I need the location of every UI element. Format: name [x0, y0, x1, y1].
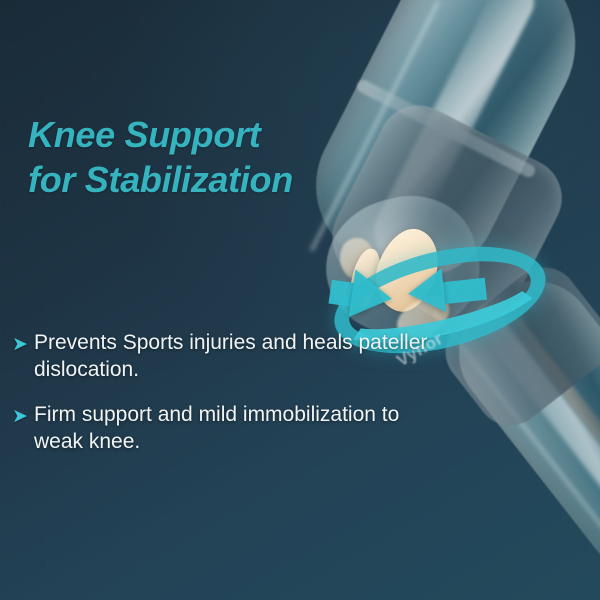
fibula-bone-highlight [505, 314, 600, 543]
medial-condyle-bone [345, 246, 385, 312]
page-title-line-1: Knee Support [28, 112, 293, 157]
background-texture-overlay [0, 0, 600, 600]
list-item: ➤ Firm support and mild immobilization t… [12, 402, 432, 456]
page-title-line-2: for Stabilization [28, 157, 293, 202]
page-title: Knee Support for Stabilization [28, 112, 293, 202]
feature-bullet-list: ➤ Prevents Sports injuries and heals pat… [12, 330, 432, 474]
tibia-bone-highlight [469, 302, 600, 554]
compression-sleeve-upper-hem [355, 78, 537, 179]
list-item: ➤ Prevents Sports injuries and heals pat… [12, 330, 432, 384]
compression-sleeve-lower [432, 254, 600, 439]
bullet-text: Prevents Sports injuries and heals patel… [34, 330, 432, 384]
thigh-limb-shape [288, 0, 600, 305]
compression-arrow-right-tail [441, 278, 487, 304]
lateral-condyle-bone [366, 221, 447, 319]
compression-arrow-left-tail [328, 280, 365, 308]
femur-bone-highlight [366, 0, 541, 260]
thigh-edge-glow [309, 0, 441, 252]
arrow-right-bullet-icon: ➤ [12, 407, 34, 426]
shin-limb-shape [435, 257, 600, 600]
patella-bone [338, 236, 376, 281]
knee-anatomy-illustration: Vynor [0, 0, 600, 600]
knee-joint-capsule [312, 182, 492, 351]
compression-arrow-right-icon [406, 268, 446, 316]
bullet-text: Firm support and mild immobilization to … [34, 402, 432, 456]
shin-edge-glow [433, 310, 600, 549]
knee-support-poster: Vynor Knee Support for Stabilization ➤ P… [0, 0, 600, 600]
arrow-right-bullet-icon: ➤ [12, 335, 34, 354]
compression-arrow-left-icon [349, 269, 395, 322]
compression-sleeve-upper [316, 92, 575, 347]
